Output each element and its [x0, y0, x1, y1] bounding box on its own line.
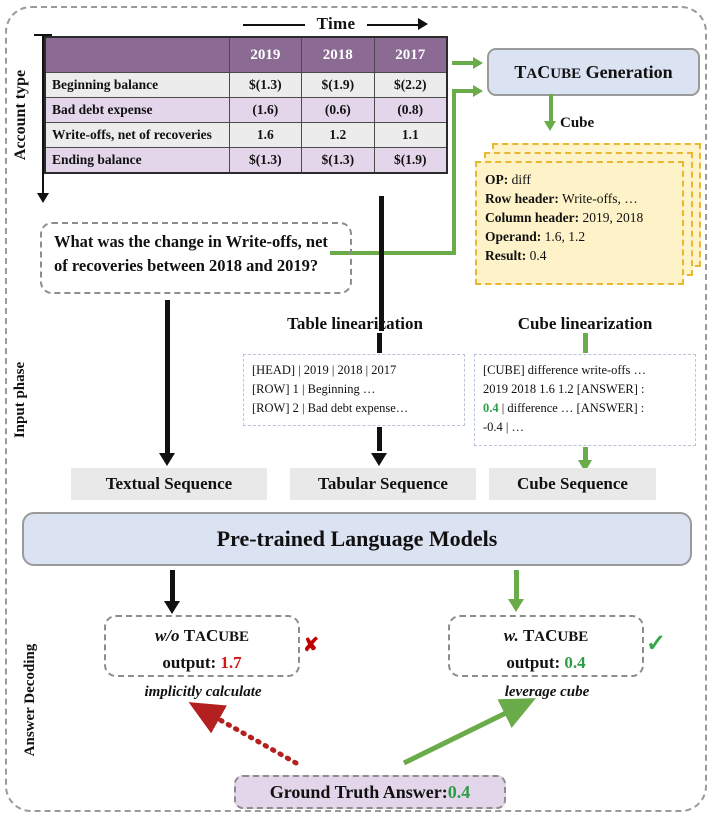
table-header-2017: 2017 [374, 37, 447, 73]
output-without-label: output: [162, 653, 220, 672]
output-without-tacube-box: w/o TACUBE output: 1.7 [104, 615, 300, 677]
cube-value-result: 0.4 [526, 248, 546, 263]
generation-to-cube-line [549, 94, 553, 124]
ground-truth-label: Ground Truth Answer: [270, 782, 448, 803]
table-linearization-heading-text: Table linearization [287, 314, 423, 334]
brand-small-b: UBE [218, 629, 249, 645]
cube-key-column-header: Column header: [485, 210, 579, 225]
table-row-label: Bad debt expense [45, 98, 229, 123]
input-phase-label: Input phase [12, 330, 32, 470]
cube-linearization-box: [CUBE] difference write-offs … 2019 2018… [474, 354, 696, 446]
cube-value-column-header: 2019, 2018 [579, 210, 643, 225]
output-with-tacube-box: w. TACUBE output: 0.4 [448, 615, 644, 677]
question-to-textual-line [165, 300, 170, 455]
green-arrow-head-icon [508, 599, 524, 612]
tacube-title-suffix: Generation [581, 62, 673, 82]
plm-to-without-line [170, 570, 175, 604]
cube-lin-line-3: 0.4 | difference … [ANSWER] : [483, 399, 687, 418]
output-with-value-line: output: 0.4 [450, 650, 642, 675]
tacube-generation-box[interactable]: TACUBE Generation [487, 48, 700, 96]
implicitly-calculate-annotation: implicitly calculate [108, 684, 298, 701]
cube-line-result: Result: 0.4 [485, 246, 681, 265]
brand-small-d: UBE [557, 629, 588, 645]
leverage-cube-annotation: leverage cube [452, 684, 642, 701]
table-cell: (0.8) [374, 98, 447, 123]
cube-line-op: OP: diff [485, 170, 681, 189]
cube-key-row-header: Row header: [485, 191, 559, 206]
table-row: Beginning balance $(1.3) $(1.9) $(2.2) [45, 73, 447, 98]
table-header-2018: 2018 [302, 37, 374, 73]
green-arrow-head-icon [544, 121, 556, 131]
tabular-sequence-label: Tabular Sequence [318, 474, 448, 494]
cube-line-row-header: Row header: Write-offs, … [485, 189, 681, 208]
question-text: What was the change in Write-offs, net o… [54, 232, 328, 275]
tabular-sequence-chip: Tabular Sequence [290, 468, 476, 500]
textual-sequence-chip: Textual Sequence [71, 468, 267, 500]
account-type-axis-label-text: Account type [12, 30, 30, 200]
brand-small-a: A [195, 629, 206, 645]
cube-value-operand: 1.6, 1.2 [541, 229, 585, 244]
table-cell: $(1.3) [229, 148, 301, 174]
table-row: Write-offs, net of recoveries 1.6 1.2 1.… [45, 123, 447, 148]
time-axis-line-right [367, 24, 419, 26]
output-without-value-line: output: 1.7 [106, 650, 298, 675]
brand-small-c: A [534, 629, 545, 645]
tacube-title-smallcaps-b: UBE [550, 66, 581, 82]
table-cell: 1.2 [302, 123, 374, 148]
cube-key-op: OP: [485, 172, 508, 187]
output-with-prefix: w. [504, 626, 523, 645]
question-box: What was the change in Write-offs, net o… [40, 222, 352, 294]
table-branch-line [379, 196, 384, 331]
table-row-label: Write-offs, net of recoveries [45, 123, 229, 148]
output-without-value: 1.7 [220, 653, 241, 672]
plm-to-with-line [514, 570, 519, 602]
table-header-row: 2019 2018 2017 [45, 37, 447, 73]
cube-lin-answer-value: 0.4 [483, 401, 499, 415]
table-lin-connector-top [377, 333, 382, 353]
black-arrow-head-icon [371, 453, 387, 466]
account-type-axis-label: Account type [6, 36, 36, 206]
cross-mark-icon: ✘ [303, 634, 319, 657]
table-cell: $(1.9) [302, 73, 374, 98]
table-row: Bad debt expense (1.6) (0.6) (0.8) [45, 98, 447, 123]
pretrained-language-models-label: Pre-trained Language Models [217, 526, 498, 552]
tacube-generation-title: TACUBE Generation [514, 62, 672, 83]
table-cell: (1.6) [229, 98, 301, 123]
table-row-label: Beginning balance [45, 73, 229, 98]
cube-key-operand: Operand: [485, 229, 541, 244]
table-cell: $(1.3) [229, 73, 301, 98]
cube-value-op: diff [508, 172, 531, 187]
table-cell: 1.1 [374, 123, 447, 148]
time-axis-line-left [243, 24, 305, 26]
cube-linearization-heading-text: Cube linearization [518, 314, 653, 334]
table-header-2019: 2019 [229, 37, 301, 73]
table-cell: $(1.3) [302, 148, 374, 174]
cube-lin-line-1: [CUBE] difference write-offs … [483, 361, 687, 380]
output-without-title: w/o TACUBE [106, 623, 298, 650]
check-mark-icon: ✓ [646, 629, 666, 658]
cube-sequence-label: Cube Sequence [517, 474, 628, 494]
table-cell: $(2.2) [374, 73, 447, 98]
answer-decoding-label: Answer Decoding [22, 620, 42, 780]
cube-sequence-chip: Cube Sequence [489, 468, 656, 500]
account-axis-arrow-icon [37, 193, 49, 203]
cube-value-row-header: Write-offs, … [559, 191, 638, 206]
output-with-title: w. TACUBE [450, 623, 642, 650]
table-lin-line-2: [ROW] 1 | Beginning … [252, 380, 456, 399]
pretrained-language-models-box[interactable]: Pre-trained Language Models [22, 512, 692, 566]
output-with-value: 0.4 [564, 653, 585, 672]
tacube-title-smallcaps-a: A [526, 66, 537, 82]
output-with-label: output: [506, 653, 564, 672]
table-linearization-heading: Table linearization [244, 312, 466, 336]
table-row-label: Ending balance [45, 148, 229, 174]
black-arrow-head-icon [159, 453, 175, 466]
table-lin-line-1: [HEAD] | 2019 | 2018 | 2017 [252, 361, 456, 380]
green-connector-vertical [452, 91, 456, 255]
cube-line-operand: Operand: 1.6, 1.2 [485, 227, 681, 246]
black-arrow-head-icon [164, 601, 180, 614]
cube-lin-line-4: -0.4 | … [483, 418, 687, 437]
table-cell: (0.6) [302, 98, 374, 123]
table-lin-line-3: [ROW] 2 | Bad debt expense… [252, 399, 456, 418]
cube-content: OP: diff Row header: Write-offs, … Colum… [485, 170, 681, 265]
table-lin-connector-bottom [377, 427, 382, 451]
cube-key-result: Result: [485, 248, 526, 263]
table-linearization-box: [HEAD] | 2019 | 2018 | 2017 [ROW] 1 | Be… [243, 354, 465, 426]
output-without-prefix: w/o [155, 626, 184, 645]
input-phase-label-text: Input phase [12, 362, 28, 438]
cube-lin-line-3-rest: | difference … [ANSWER] : [499, 401, 645, 415]
table-row: Ending balance $(1.3) $(1.3) $(1.9) [45, 148, 447, 174]
financial-table: 2019 2018 2017 Beginning balance $(1.3) … [44, 36, 448, 174]
figure-root: Time Account type 2019 2018 2017 Beginni… [0, 0, 714, 818]
cube-line-column-header: Column header: 2019, 2018 [485, 208, 681, 227]
ground-truth-answer-box: Ground Truth Answer: 0.4 [234, 775, 506, 809]
time-axis-arrow-icon [418, 18, 428, 30]
cube-lin-line-2: 2019 2018 1.6 1.2 [ANSWER] : [483, 380, 687, 399]
green-arrow-head-icon [473, 85, 483, 97]
time-axis-label-text: Time [317, 14, 356, 34]
table-header-blank [45, 37, 229, 73]
answer-decoding-label-text: Answer Decoding [22, 644, 38, 757]
cube-lin-connector-top [583, 333, 588, 353]
ground-truth-value: 0.4 [448, 782, 471, 803]
textual-sequence-label: Textual Sequence [106, 474, 232, 494]
table-cell: $(1.9) [374, 148, 447, 174]
table-cell: 1.6 [229, 123, 301, 148]
cube-edge-label: Cube [560, 115, 594, 132]
green-arrow-head-icon [473, 57, 483, 69]
